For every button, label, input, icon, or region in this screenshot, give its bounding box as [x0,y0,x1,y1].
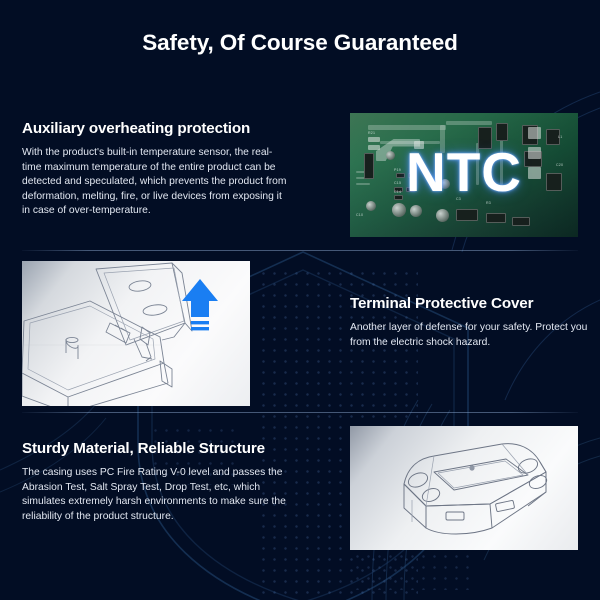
infographic-page: Safety, Of Course Guaranteed Auxiliary o… [0,0,600,600]
section-divider-2 [22,412,578,413]
product-housing-line-art [350,426,578,550]
pcb-ntc-photo: P19 C15 C14 R21 C3 C10 L1 C20 R3 NTC [350,113,578,237]
section-1-heading: Auxiliary overheating protection [22,120,290,137]
terminal-cover-diagram [22,261,250,406]
section-3-heading: Sturdy Material, Reliable Structure [22,440,290,457]
section-2-heading: Terminal Protective Cover [350,295,590,312]
section-1-body: With the product's built-in temperature … [22,146,290,219]
section-auxiliary-overheating-protection-text: Auxiliary overheating protection With th… [22,120,290,219]
section-2-body: Another layer of defense for your safety… [350,321,590,350]
terminal-cover-line-art [22,261,250,406]
section-divider-1 [22,250,578,251]
section-terminal-protective-cover-text: Terminal Protective Cover Another layer … [350,295,590,350]
product-housing-diagram [350,426,578,550]
page-title: Safety, Of Course Guaranteed [0,30,600,56]
section-3-body: The casing uses PC Fire Rating V-0 level… [22,466,290,524]
section-sturdy-material-text: Sturdy Material, Reliable Structure The … [22,440,290,524]
ntc-overlay-label: NTC [350,144,578,200]
